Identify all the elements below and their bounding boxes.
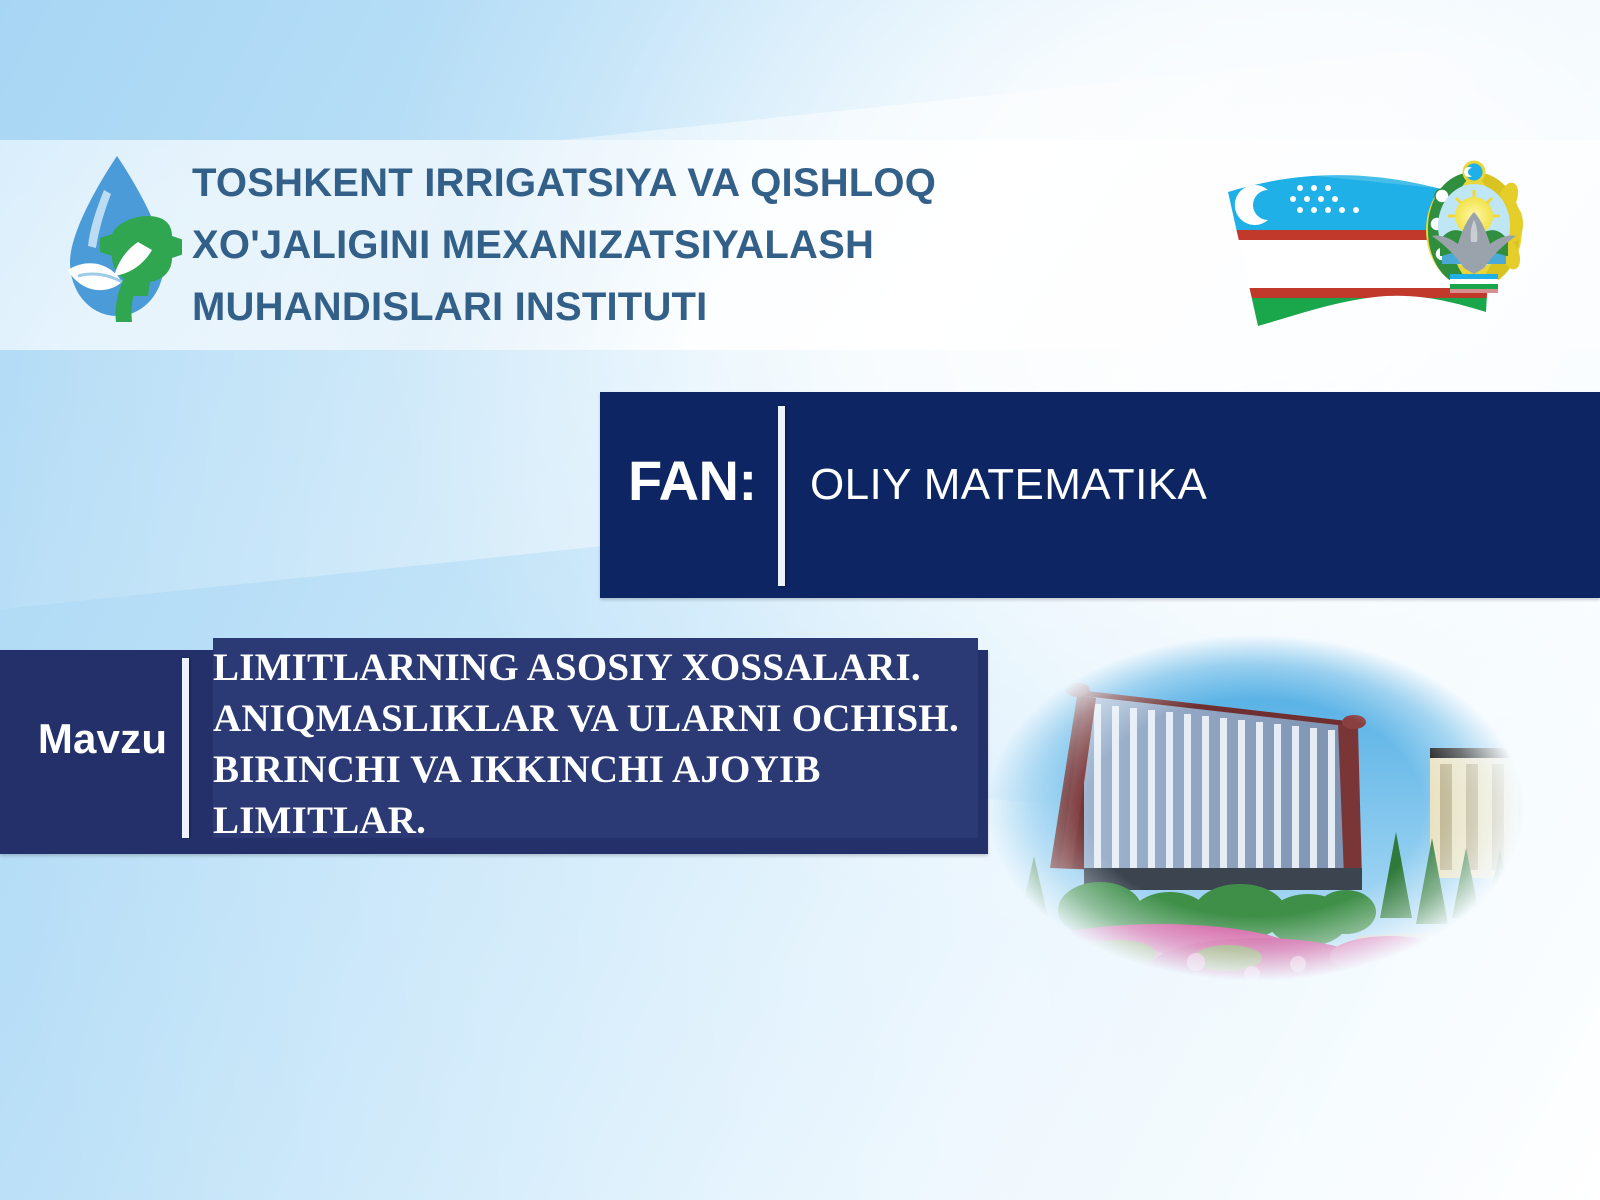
- subject-label: FAN:: [628, 450, 757, 512]
- institute-building-photo: [960, 618, 1550, 998]
- uzbekistan-flag-icon: [1196, 146, 1526, 346]
- topic-label: Mavzu: [20, 715, 185, 763]
- topic-divider: [182, 658, 189, 838]
- subject-divider: [778, 406, 785, 586]
- subject-value: OLIY MATEMATIKA: [810, 458, 1207, 512]
- institute-logo-icon: [52, 150, 182, 330]
- topic-title: LIMITLARNING ASOSIY XOSSALARI. ANIQMASLI…: [213, 642, 973, 846]
- presentation-title-slide: TOSHKENT IRRIGATSIYA VA QISHLOQ XO'JALIG…: [0, 0, 1600, 1200]
- institute-name: TOSHKENT IRRIGATSIYA VA QISHLOQ XO'JALIG…: [192, 152, 1092, 338]
